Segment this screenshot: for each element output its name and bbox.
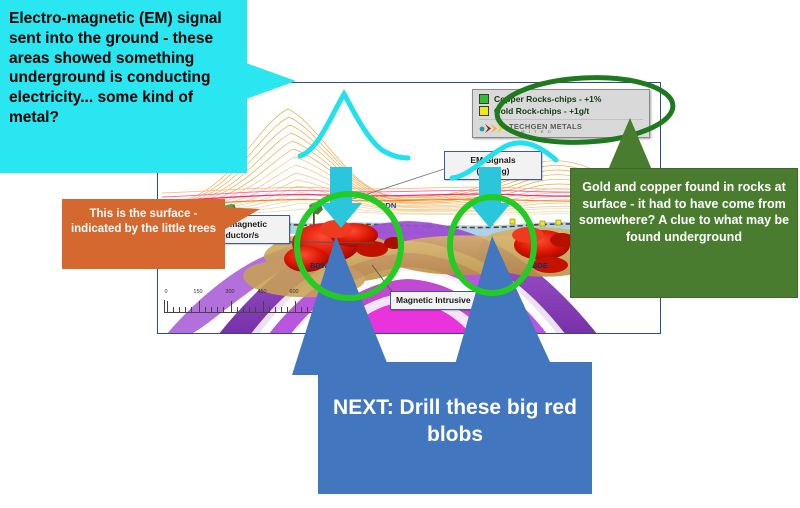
scale-tick-450: 450 xyxy=(257,289,266,295)
callout-em-signal-tail xyxy=(246,63,296,99)
scale-tick-750: 750 xyxy=(319,289,328,295)
callout-surface: This is the surface - indicated by the l… xyxy=(62,199,225,269)
scale-bar-numbers: 0 150 300 450 600 750 xyxy=(164,289,354,300)
callout-next-drill-text: NEXT: Drill these big red blobs xyxy=(318,362,592,449)
callout-surface-tail xyxy=(222,207,260,231)
callout-next-drill: NEXT: Drill these big red blobs xyxy=(318,362,592,494)
callout-em-signal: Electro-magnetic (EM) signal sent into t… xyxy=(0,0,247,173)
callout-goldcopper-text: Gold and copper found in rocks at surfac… xyxy=(571,169,797,245)
tag-bdw-text: BDW xyxy=(310,261,328,270)
scale-tick-0: 0 xyxy=(164,289,167,295)
scale-bar: 0 150 300 450 600 750 xyxy=(164,289,354,323)
logo-line-2: L I M I T E D xyxy=(509,130,582,134)
scale-bar-unit: Metres xyxy=(326,316,344,322)
legend-item-gold: Gold Rock-chips - +1g/t xyxy=(479,106,643,116)
tag-bdn-text: BDN xyxy=(380,201,396,210)
slide-canvas: EM Signals (Strong) Electromagnetic Cond… xyxy=(0,0,800,508)
callout-goldcopper: Gold and copper found in rocks at surfac… xyxy=(570,168,798,298)
legend-label-copper: Copper Rocks-chips - +1% xyxy=(494,94,601,104)
scale-tick-600: 600 xyxy=(289,289,298,295)
label-em-signals: EM Signals (Strong) xyxy=(444,151,542,180)
callout-em-signal-text: Electro-magnetic (EM) signal sent into t… xyxy=(1,1,246,128)
callout-surface-text: This is the surface - indicated by the l… xyxy=(62,199,225,237)
label-magnetic-intrusive-text: Magnetic Intrusive xyxy=(396,295,471,305)
scale-tick-300: 300 xyxy=(225,289,234,295)
legend-label-gold: Gold Rock-chips - +1g/t xyxy=(494,106,589,116)
tag-bdw: BDW xyxy=(310,261,328,270)
label-em-signals-line2: (Strong) xyxy=(450,166,536,177)
scale-bar-ticks xyxy=(164,300,354,313)
legend-swatch-gold xyxy=(479,106,489,116)
label-magnetic-intrusive: Magnetic Intrusive xyxy=(390,291,477,310)
legend-swatch-copper xyxy=(479,94,489,104)
label-em-signals-line1: EM Signals xyxy=(450,155,536,166)
tag-bde: BDE xyxy=(532,261,548,270)
legend-item-copper: Copper Rocks-chips - +1% xyxy=(479,94,643,104)
tag-bdn: BDN xyxy=(380,201,396,210)
techgen-logo-icon xyxy=(479,122,505,135)
callout-goldcopper-tail xyxy=(608,118,652,170)
scale-tick-150: 150 xyxy=(193,289,202,295)
tag-bde-text: BDE xyxy=(532,261,548,270)
techgen-logo-text: TECHGEN METALS L I M I T E D xyxy=(509,123,582,135)
